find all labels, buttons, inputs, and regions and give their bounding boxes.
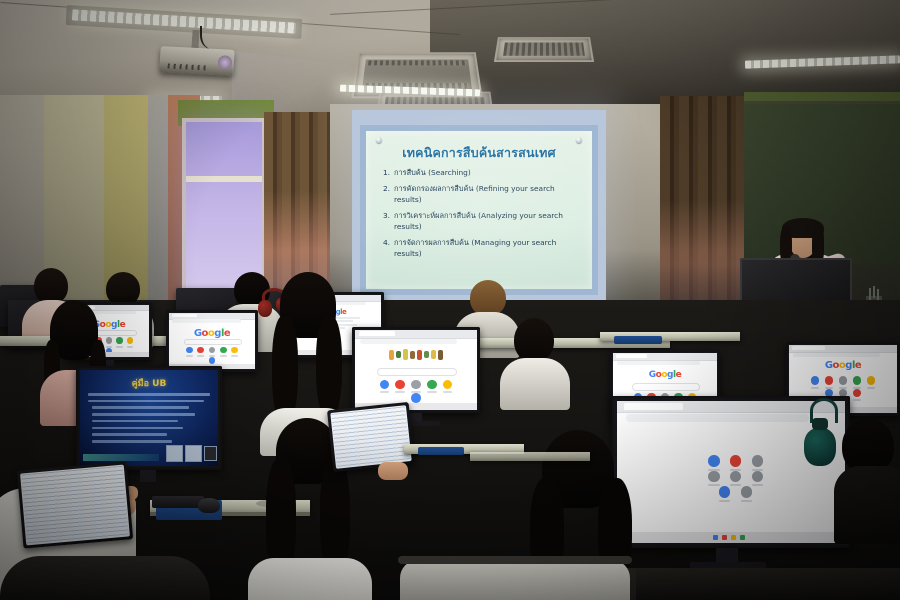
teal-headphones-cup-icon (804, 428, 836, 466)
right-wall-green-trim (744, 92, 900, 101)
classroom-scene: เทคนิคการสืบค้นสารสนเทศ 1.การสืบค้น (Sea… (0, 0, 900, 600)
slide-item: 4.การจัดการผลการสืบค้น (Managing your se… (380, 237, 584, 259)
ceiling-cassette-ac-right (494, 37, 594, 62)
teal-headphones-yoke (812, 418, 828, 430)
projector-cable (200, 26, 228, 50)
slide-content: เทคนิคการสืบค้นสารสนเทศ 1.การสืบค้น (Sea… (366, 131, 592, 289)
mousepad-center (418, 447, 464, 455)
student-far-right (838, 418, 900, 538)
monitor-google-doodle[interactable] (352, 327, 480, 413)
slide-item: 3.การวิเคราะห์ผลการสืบค้น (Analyzing you… (380, 210, 584, 232)
monitor-blue-slide[interactable]: คู่มือ UB (76, 366, 222, 470)
ceiling-projector (159, 46, 234, 76)
slide-item: 1.การสืบค้น (Searching) (380, 167, 584, 178)
mousepad-right-rear (614, 336, 662, 344)
projector-vents (168, 63, 208, 70)
desk-mid-right (470, 452, 590, 461)
tablet-device-left[interactable] (17, 461, 133, 548)
slide-bullet-list: 1.การสืบค้น (Searching) 2.การคัดกรองผลกา… (380, 167, 584, 263)
slide-title: เทคนิคการสืบค้นสารสนเทศ (366, 143, 592, 163)
monitor-stand (140, 470, 156, 482)
slide-item: 2.การคัดกรองผลการสืบค้น (Refining your s… (380, 183, 584, 205)
window-mullion (186, 176, 262, 182)
monitor-base (690, 562, 766, 570)
monitor-mid-left-2[interactable]: Google (166, 310, 258, 372)
student-hand-center (378, 462, 408, 480)
mouse-front-left[interactable] (198, 498, 220, 513)
keyboard-front-left[interactable] (152, 496, 204, 508)
projector-lens (218, 55, 233, 70)
student-mid-right (500, 318, 570, 408)
